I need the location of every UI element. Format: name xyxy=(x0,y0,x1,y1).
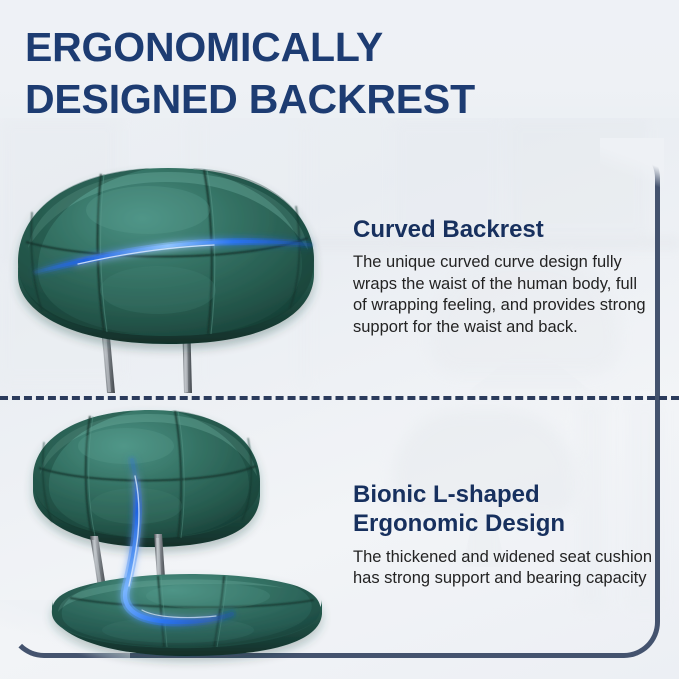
seat-cushion xyxy=(52,574,322,656)
poster-header: ERGONOMICALLY DESIGNED BACKREST xyxy=(0,0,679,118)
feature-description: The thickened and widened seat cushion h… xyxy=(353,547,653,590)
feature-title: Bionic L-shaped Ergonomic Design xyxy=(353,480,653,539)
bionic-l-shaped-illustration xyxy=(8,404,353,659)
product-infographic-poster: ERGONOMICALLY DESIGNED BACKREST xyxy=(0,0,679,679)
page-title: ERGONOMICALLY DESIGNED BACKREST xyxy=(25,22,665,125)
feature-block-bionic-l-shaped: Bionic L-shaped Ergonomic Design The thi… xyxy=(353,480,653,589)
ghost-office-chair-base xyxy=(470,350,590,390)
seat-backrest xyxy=(33,410,260,547)
curved-backrest-illustration xyxy=(8,150,348,395)
frame-fade-top xyxy=(600,138,664,188)
section-divider xyxy=(0,396,679,400)
feature-title: Curved Backrest xyxy=(353,215,653,244)
feature-description: The unique curved curve design fully wra… xyxy=(353,252,653,338)
feature-block-curved-backrest: Curved Backrest The unique curved curve … xyxy=(353,215,653,338)
